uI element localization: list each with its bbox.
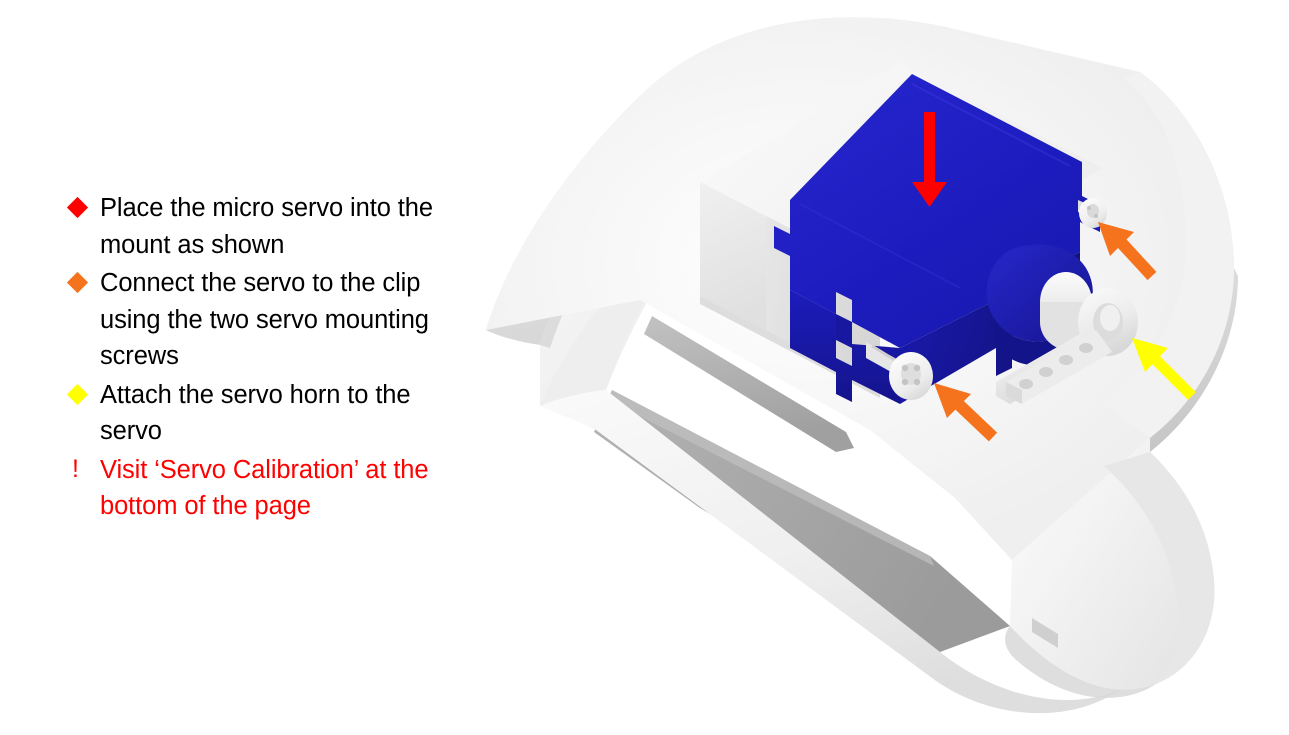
red-arrow <box>912 112 947 207</box>
horn-hole-3 <box>1039 367 1053 377</box>
clip-deck <box>486 17 1238 560</box>
screw-lower-hole-d <box>914 379 920 385</box>
clip-inner-channel <box>594 390 1010 652</box>
orange-arrow-lower <box>934 383 993 437</box>
screw-upper-hole-b <box>1094 214 1098 218</box>
horn-hub-hole <box>1093 303 1123 341</box>
clip-lower-arm-face <box>540 390 1122 713</box>
servo-output-boss <box>987 244 1093 365</box>
screw-upper-recess <box>1087 204 1099 218</box>
bullet-marker <box>62 265 100 299</box>
screw-lower-shank <box>866 342 902 378</box>
servo-top-face <box>774 74 1098 348</box>
horn-hub <box>1078 288 1138 356</box>
horn-plate <box>1006 330 1112 404</box>
clip-band-face <box>540 53 950 406</box>
horn-end <box>1006 382 1022 404</box>
mount-top <box>700 62 1102 274</box>
output-shaft <box>1040 272 1092 350</box>
servo-top-seam-1 <box>912 84 1070 166</box>
instruction-text-1: Place the micro servo into the mount as … <box>100 190 462 263</box>
instruction-list: Place the micro servo into the mount as … <box>62 190 462 527</box>
slide-root: Place the micro servo into the mount as … <box>0 0 1289 735</box>
instruction-text-4: Visit ‘Servo Calibration’ at the bottom … <box>100 452 462 525</box>
servo-tab-lower <box>836 314 852 348</box>
screw-lower-head <box>889 352 933 400</box>
bullet-marker: ! <box>62 452 100 486</box>
mounting-screw-lower <box>866 342 933 400</box>
mounting-screw-upper <box>1078 198 1107 228</box>
bullet-marker <box>62 190 100 224</box>
horn-arm <box>996 300 1108 404</box>
mount-right-face <box>766 216 880 390</box>
horn-hole-4 <box>1019 379 1033 389</box>
micro-servo <box>774 74 1100 404</box>
clip-band-curl <box>540 276 660 406</box>
bullet-marker <box>62 377 100 411</box>
screw-lower-recess <box>901 363 921 385</box>
clip-lower-tab <box>1032 618 1058 648</box>
clip-sweep <box>1010 438 1214 690</box>
servo-tab-upper <box>1080 196 1100 232</box>
yellow-diamond-icon <box>67 383 88 404</box>
clip-outer-band <box>486 17 950 345</box>
clip <box>486 17 950 406</box>
orange-diamond-icon <box>67 272 88 293</box>
mount-bottom-shadow <box>700 296 880 398</box>
horn-hole-2 <box>1059 355 1073 365</box>
list-item: Place the micro servo into the mount as … <box>62 190 462 263</box>
list-item: ! Visit ‘Servo Calibration’ at the botto… <box>62 452 462 525</box>
exclamation-icon: ! <box>72 452 79 486</box>
screw-upper-head <box>1079 198 1107 228</box>
horn-hole-1 <box>1079 343 1093 353</box>
yellow-arrow <box>1132 338 1192 396</box>
clip-sweep-outer <box>1104 452 1214 684</box>
horn-hub-hole-inner <box>1100 305 1120 331</box>
screw-lower-hole-a <box>902 365 908 371</box>
deck-edge <box>1150 268 1238 452</box>
orange-arrow-upper <box>1098 222 1152 276</box>
mount-front-face <box>700 182 766 330</box>
list-item: Attach the servo horn to the servo <box>62 377 462 450</box>
screw-lower-hole-c <box>902 379 908 385</box>
clip-inner-rib <box>644 316 854 452</box>
screw-lower-thread <box>872 346 898 362</box>
deck-nose <box>1104 72 1234 438</box>
servo-front-face <box>790 290 900 404</box>
deck-top-surface <box>486 17 1234 560</box>
red-diamond-icon <box>67 197 88 218</box>
list-item: Connect the servo to the clip using the … <box>62 265 462 375</box>
servo-horn <box>996 272 1138 404</box>
instruction-text-3: Attach the servo horn to the servo <box>100 377 462 450</box>
clip-hook-inner <box>1005 626 1156 698</box>
clip-lower-arm <box>540 316 1214 713</box>
instruction-text-2: Connect the servo to the clip using the … <box>100 265 462 375</box>
screw-upper-shank <box>1078 200 1096 220</box>
servo-mount <box>700 62 1102 398</box>
servo-top-seam-2 <box>800 204 960 288</box>
servo-right-face <box>900 252 1080 404</box>
screw-lower-hole-b <box>914 365 920 371</box>
clip-band-inner-edge <box>540 53 950 348</box>
clip-inner-channel-top-highlight <box>608 390 934 566</box>
screw-upper-hole-a <box>1087 206 1091 210</box>
